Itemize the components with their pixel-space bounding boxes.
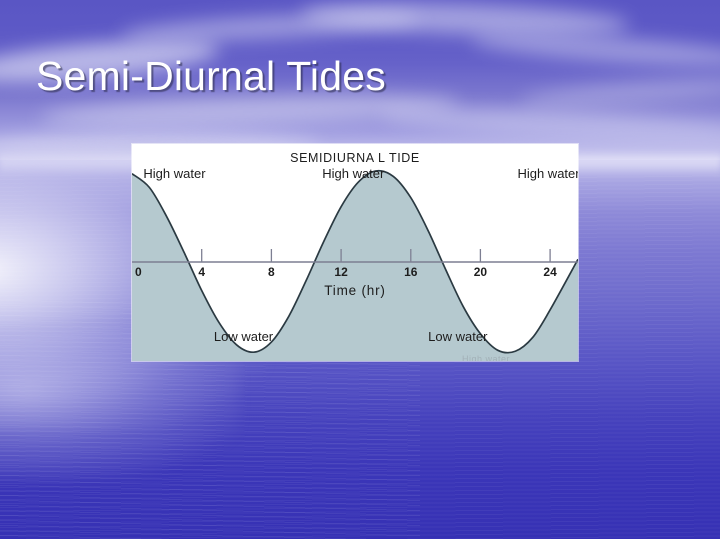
x-tick-label: 0	[135, 265, 142, 279]
x-tick-label: 12	[334, 265, 348, 279]
annotation-high-water-3: High water	[517, 166, 578, 181]
cloud-shape	[380, 102, 720, 148]
cloud-shape	[470, 28, 720, 72]
cloud-shape	[520, 74, 720, 111]
annotation-high-water-1: High water	[143, 166, 206, 181]
slide-title: Semi-Diurnal Tides	[36, 52, 386, 100]
x-axis-tick-labels: 04812162024	[135, 265, 557, 279]
cloud-shape	[300, 0, 631, 40]
presentation-slide: Semi-Diurnal Tides 04812162024 SEMIDIURN…	[0, 0, 720, 539]
x-tick-label: 20	[474, 265, 488, 279]
x-tick-label: 24	[543, 265, 557, 279]
x-axis-label: Time (hr)	[324, 283, 385, 298]
x-tick-label: 4	[198, 265, 205, 279]
annotation-high-water-2: High water	[322, 166, 385, 181]
tide-diagram-figure: 04812162024 SEMIDIURNA L TIDE Time (hr) …	[132, 144, 578, 361]
annotation-low-water-1: Low water	[214, 329, 274, 344]
x-tick-label: 8	[268, 265, 275, 279]
annotation-low-water-2: Low water	[428, 329, 488, 344]
tide-chart-svg: 04812162024 SEMIDIURNA L TIDE Time (hr) …	[132, 144, 578, 361]
chart-title: SEMIDIURNA L TIDE	[290, 151, 420, 165]
x-tick-label: 16	[404, 265, 418, 279]
